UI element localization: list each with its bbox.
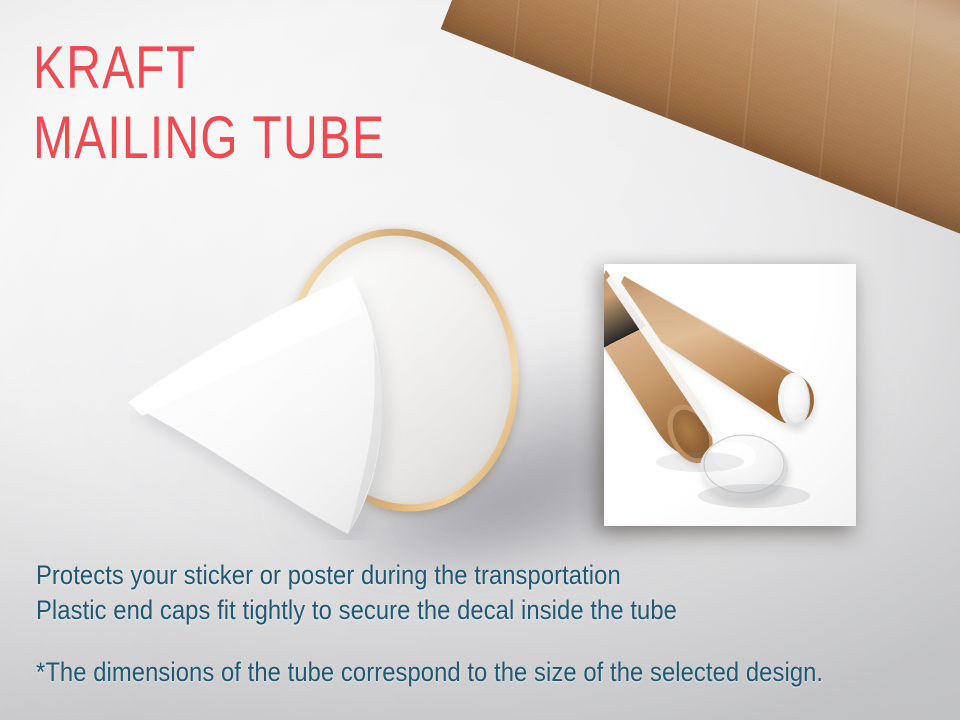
inset-tube-shadow [656,452,744,472]
title-line-2: MAILING TUBE [33,104,385,171]
tube-interior [273,220,531,521]
inset-illustration [604,264,856,526]
product-inset-photo [604,264,856,526]
page-title: KRAFT MAILING TUBE [33,33,385,172]
rim-shine [273,220,531,521]
gold-rim-icon [265,212,539,529]
inset-cap-shadow [698,484,810,508]
title-line-1: KRAFT [33,34,196,101]
footnote: *The dimensions of the tube correspond t… [36,655,823,690]
feature-list: Protects your sticker or poster during t… [36,558,677,628]
kraft-tube-mouth [265,212,539,529]
product-banner: KRAFT MAILING TUBE Protects your sticker… [0,0,960,720]
feature-line-2: Plastic end caps fit tightly to secure t… [36,595,677,625]
feature-line-1: Protects your sticker or poster during t… [36,560,621,590]
inset-photo-canvas [604,264,856,526]
